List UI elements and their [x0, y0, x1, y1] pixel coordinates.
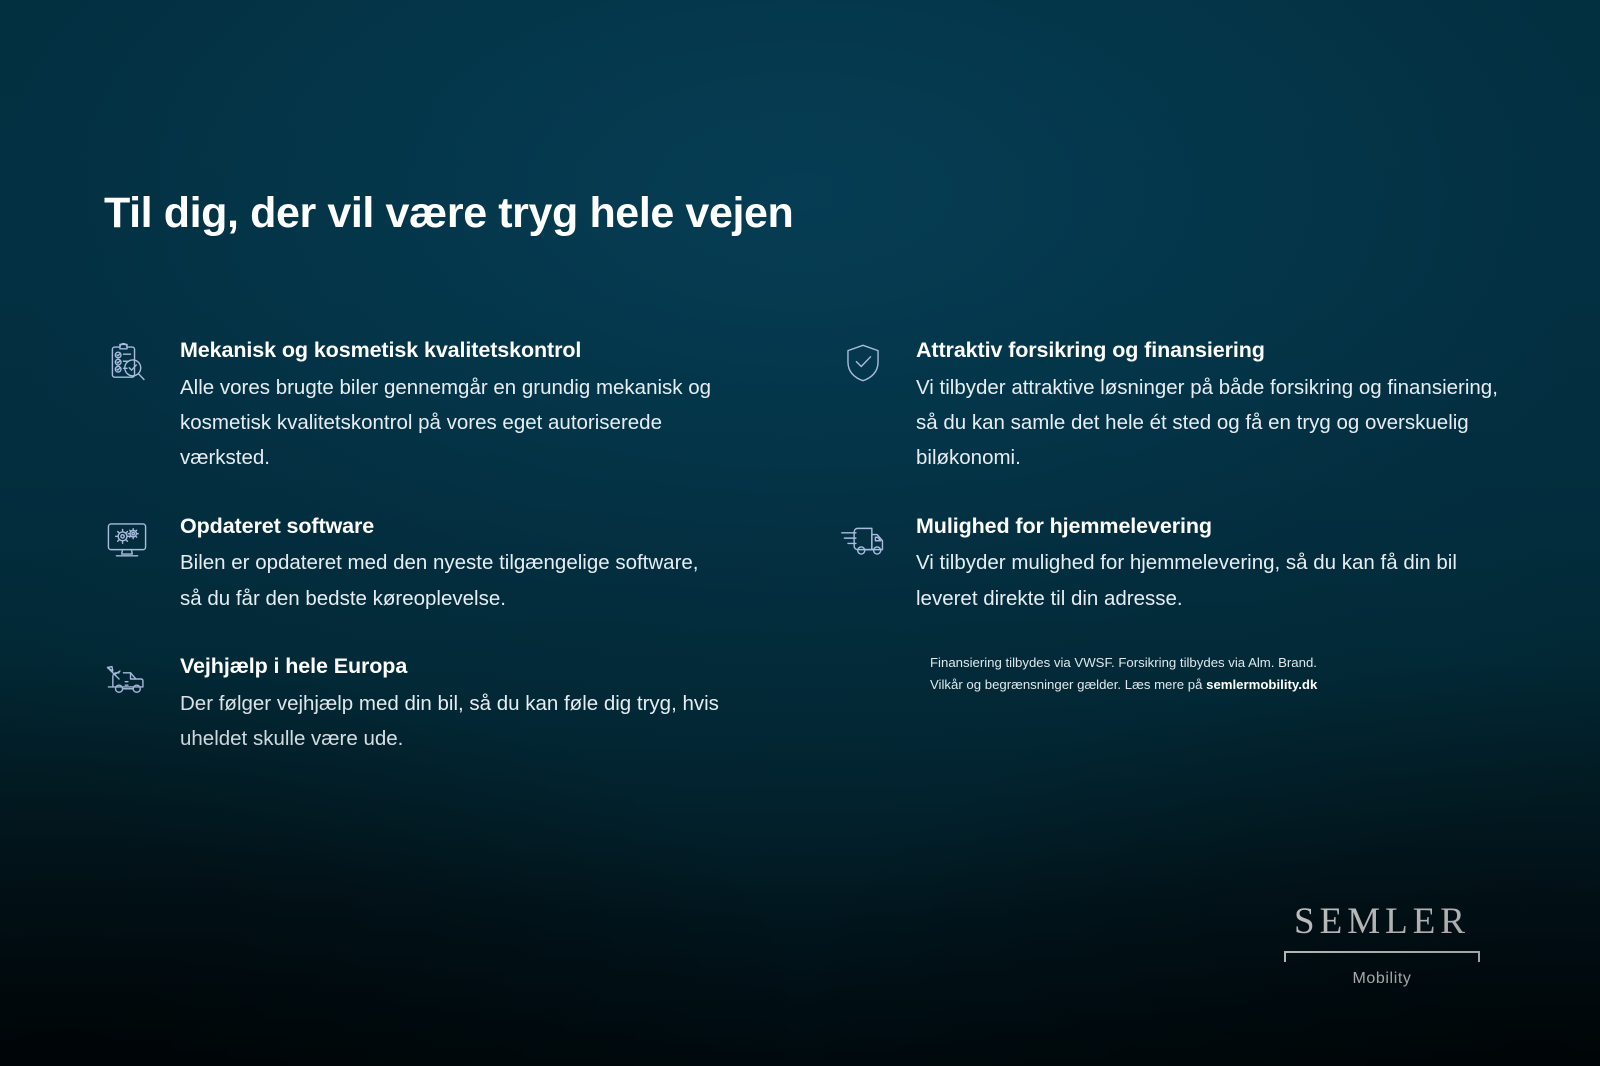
semlermobility-link[interactable]: semlermobility.dk — [1206, 677, 1317, 692]
feature-updated-software: Opdateret software Bilen er opdateret me… — [96, 512, 780, 616]
promo-slide: Til dig, der vil være tryg hele vejen — [0, 0, 1600, 1066]
page-title: Til dig, der vil være tryg hele vejen — [104, 190, 793, 237]
feature-title: Attraktiv forsikring og finansiering — [916, 338, 1516, 364]
feature-description: Vi tilbyder mulighed for hjemmelevering,… — [916, 545, 1516, 616]
feature-columns: Mekanisk og kosmetisk kvalitetskontrol A… — [96, 336, 1516, 792]
logo-wordmark: SEMLER — [1282, 903, 1482, 940]
feature-insurance-financing: Attraktiv forsikring og finansiering Vi … — [832, 336, 1516, 476]
feature-body: Mulighed for hjemmelevering Vi tilbyder … — [916, 512, 1516, 616]
feature-quality-control: Mekanisk og kosmetisk kvalitetskontrol A… — [96, 336, 780, 476]
feature-body: Opdateret software Bilen er opdateret me… — [180, 512, 780, 616]
semler-mobility-logo: SEMLER Mobility — [1282, 903, 1482, 988]
monitor-gears-icon — [96, 512, 158, 574]
feature-description: Bilen er opdateret med den nyeste tilgæn… — [180, 545, 725, 616]
disclaimer-line-1: Finansiering tilbydes via VWSF. Forsikri… — [930, 655, 1317, 670]
right-feature-column: Attraktiv forsikring og finansiering Vi … — [832, 336, 1516, 792]
feature-description: Vi tilbyder attraktive løsninger på både… — [916, 370, 1516, 476]
logo-subtitle: Mobility — [1282, 970, 1482, 988]
left-feature-column: Mekanisk og kosmetisk kvalitetskontrol A… — [96, 336, 780, 792]
feature-description: Der følger vejhjælp med din bil, så du k… — [180, 686, 725, 757]
feature-title: Mulighed for hjemmelevering — [916, 514, 1516, 540]
feature-title: Opdateret software — [180, 514, 780, 540]
logo-divider — [1284, 951, 1480, 963]
feature-body: Attraktiv forsikring og finansiering Vi … — [916, 336, 1516, 476]
feature-home-delivery: Mulighed for hjemmelevering Vi tilbyder … — [832, 512, 1516, 616]
feature-title: Vejhjælp i hele Europa — [180, 654, 780, 680]
delivery-truck-icon — [832, 512, 894, 574]
feature-description: Alle vores brugte biler gennemgår en gru… — [180, 370, 725, 476]
clipboard-check-magnifier-icon — [96, 336, 158, 398]
feature-body: Vejhjælp i hele Europa Der følger vejhjæ… — [180, 652, 780, 756]
legal-disclaimer: Finansiering tilbydes via VWSF. Forsikri… — [930, 652, 1400, 696]
feature-title: Mekanisk og kosmetisk kvalitetskontrol — [180, 338, 780, 364]
feature-body: Mekanisk og kosmetisk kvalitetskontrol A… — [180, 336, 780, 476]
shield-check-icon — [832, 336, 894, 398]
disclaimer-line-2-prefix: Vilkår og begrænsninger gælder. Læs mere… — [930, 677, 1206, 692]
feature-roadside-assistance: Vejhjælp i hele Europa Der følger vejhjæ… — [96, 652, 780, 756]
tow-truck-icon — [96, 652, 158, 714]
